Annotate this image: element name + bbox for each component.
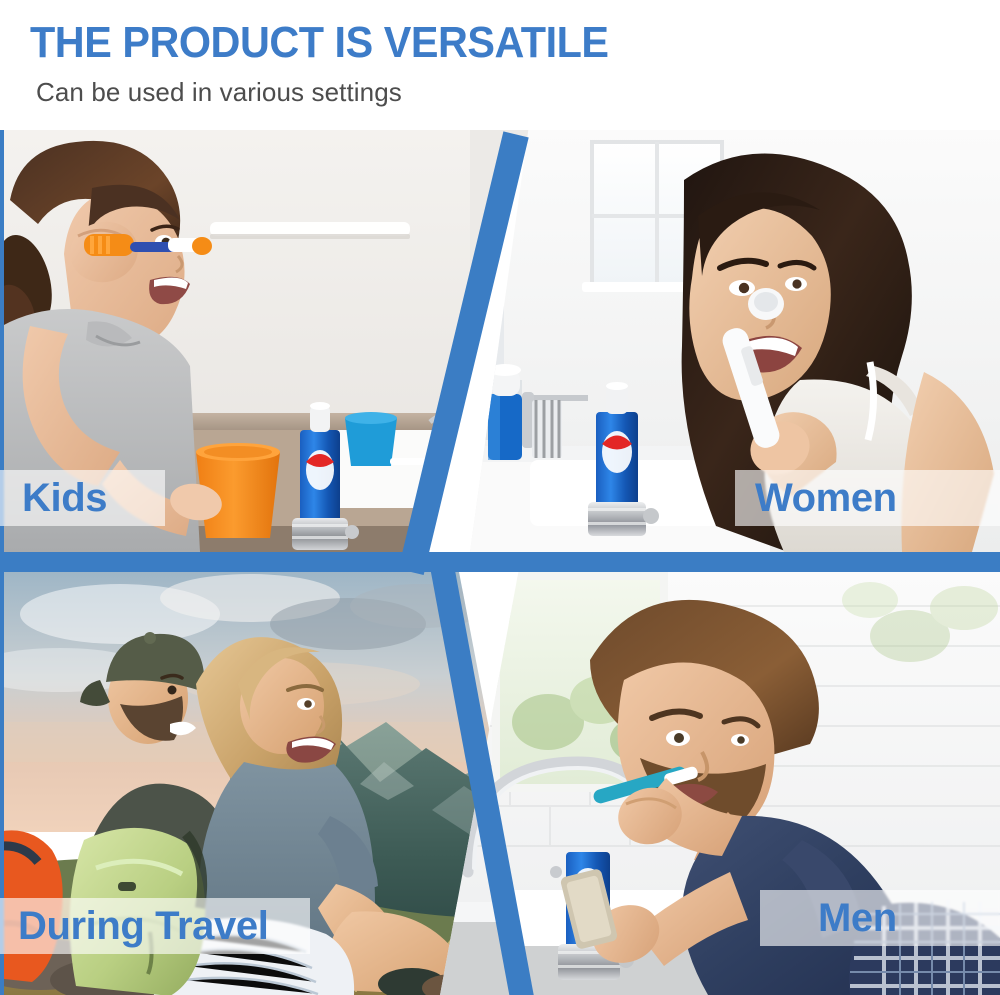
header: THE PRODUCT IS VERSATILE Can be used in … [0,0,1000,130]
caption-kids-label: Kids [22,478,107,518]
image-collage: Kids Women During Travel Men [0,130,1000,995]
page-subtitle: Can be used in various settings [36,77,402,108]
caption-men-label: Men [818,898,897,938]
page-title: THE PRODUCT IS VERSATILE [30,18,609,68]
product-infographic-page: THE PRODUCT IS VERSATILE Can be used in … [0,0,1000,995]
caption-travel-label: During Travel [18,906,268,946]
divider-horizontal [0,552,1000,572]
caption-women-label: Women [755,478,897,518]
caption-men: Men [760,890,1000,946]
caption-women: Women [735,470,1000,526]
caption-travel: During Travel [0,898,310,954]
caption-kids: Kids [0,470,165,526]
divider-left-edge [0,130,4,995]
